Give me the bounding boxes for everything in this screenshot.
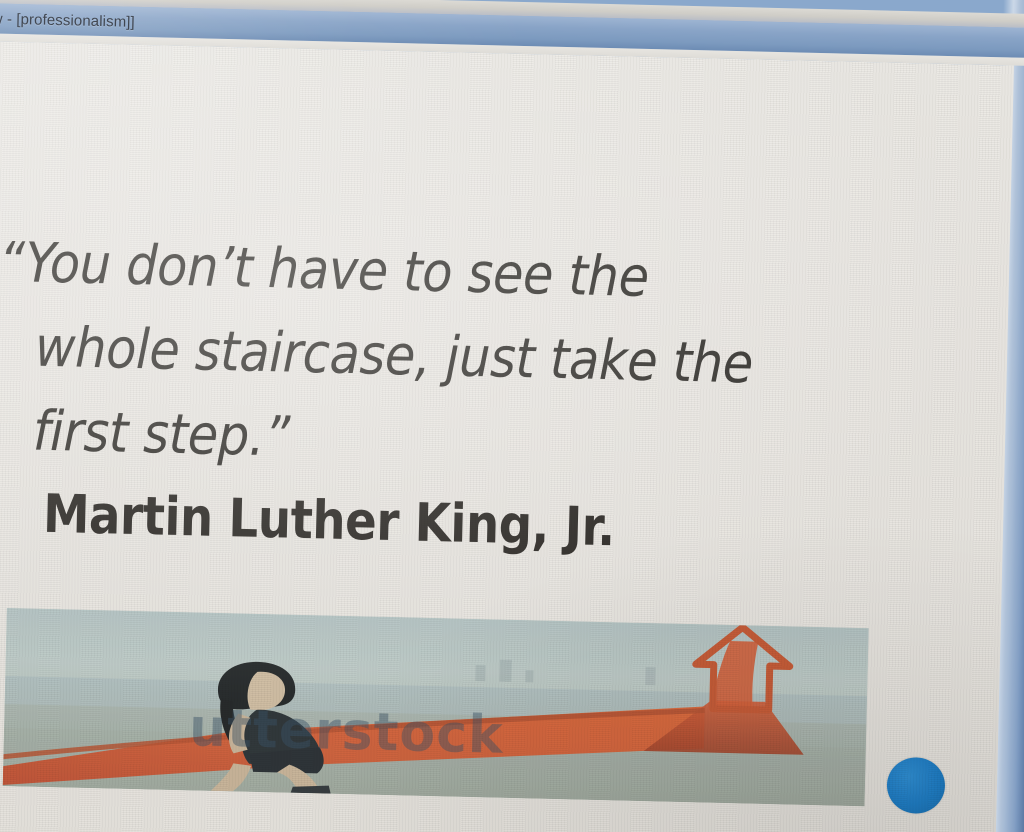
screenshot-stage: lide Show - [professionalism]] “You don’… [0,0,1024,832]
quote-text-block: “You don’t have to see the whole stairca… [0,220,900,577]
window-title-text: lide Show - [professionalism]] [0,9,135,31]
tilted-window-wrapper: lide Show - [professionalism]] “You don’… [0,0,1024,832]
shutterstock-watermark: utterstock [188,698,504,765]
slide-image-staircase-arrow[interactable]: utterstock [3,608,869,806]
blue-circle-marker[interactable] [886,757,945,814]
presentation-slide[interactable]: “You don’t have to see the whole stairca… [0,40,1014,832]
quote-attribution: Martin Luther King, Jr. [42,473,792,575]
